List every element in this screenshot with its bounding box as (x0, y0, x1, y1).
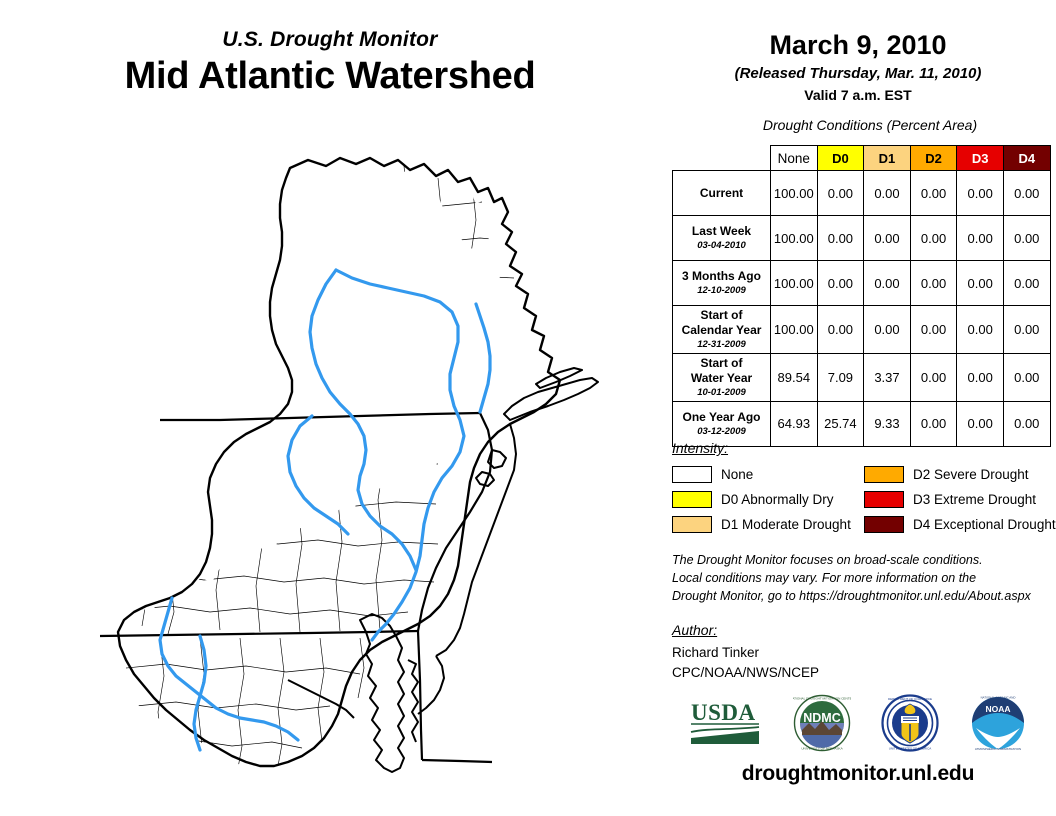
legend-label-none: None (721, 467, 753, 482)
disclaimer-text: The Drought Monitor focuses on broad-sca… (672, 552, 1052, 605)
column-header-d3: D3 (957, 146, 1004, 171)
cell-d3: 0.00 (957, 353, 1004, 401)
legend-label-d2: D2 Severe Drought (913, 467, 1029, 482)
watershed-outline (118, 158, 560, 766)
mid-atlantic-watershed-map[interactable] (40, 120, 660, 800)
cell-none: 100.00 (771, 216, 818, 261)
column-header-none: None (771, 146, 818, 171)
cell-d0: 0.00 (817, 306, 864, 354)
map-container[interactable] (40, 120, 660, 800)
table-row: Start of Water Year 10-01-2009 89.54 7.0… (673, 353, 1051, 401)
cell-d0: 0.00 (817, 216, 864, 261)
usda-logo: USDA (689, 698, 763, 753)
svg-text:NATIONAL OCEANIC AND: NATIONAL OCEANIC AND (981, 695, 1016, 699)
swatch-d4-icon (864, 516, 904, 533)
table-row: Last Week 03-04-2010 100.00 0.00 0.00 0.… (673, 216, 1051, 261)
cell-d1: 0.00 (864, 261, 911, 306)
cell-none: 100.00 (771, 171, 818, 216)
row-label-date: 12-10-2009 (675, 285, 768, 297)
swatch-d2-icon (864, 466, 904, 483)
disclaimer-line-1: The Drought Monitor focuses on broad-sca… (672, 552, 1052, 570)
row-label-date: 03-04-2010 (675, 240, 768, 252)
svg-text:NDMC: NDMC (803, 711, 841, 725)
cell-none: 100.00 (771, 261, 818, 306)
table-caption: Drought Conditions (Percent Area) (684, 117, 1056, 133)
cell-d3: 0.00 (957, 216, 1004, 261)
cell-d1: 0.00 (864, 306, 911, 354)
cell-d0: 0.00 (817, 261, 864, 306)
cell-d4: 0.00 (1003, 353, 1050, 401)
drought-monitor-page: U.S. Drought Monitor Mid Atlantic Waters… (0, 0, 1056, 816)
cell-d3: 0.00 (957, 261, 1004, 306)
swatch-d3-icon (864, 491, 904, 508)
cell-d0: 7.09 (817, 353, 864, 401)
table-row: Current 100.00 0.00 0.00 0.00 0.00 0.00 (673, 171, 1051, 216)
author-name: Richard Tinker (672, 643, 1052, 663)
cell-d3: 0.00 (957, 171, 1004, 216)
row-label-3-months-ago: 3 Months Ago 12-10-2009 (673, 261, 771, 306)
website-url[interactable]: droughtmonitor.unl.edu (660, 762, 1056, 786)
legend-item-d3: D3 Extreme Drought (864, 487, 1050, 512)
row-label-last-week: Last Week 03-04-2010 (673, 216, 771, 261)
cell-none: 100.00 (771, 306, 818, 354)
legend-label-d0: D0 Abnormally Dry (721, 492, 834, 507)
cell-d4: 0.00 (1003, 261, 1050, 306)
row-label-date: 10-01-2009 (675, 387, 768, 399)
ndmc-logo: NDMC NATIONAL DROUGHT MITIGATION CENTER … (793, 694, 851, 757)
table-row: 3 Months Ago 12-10-2009 100.00 0.00 0.00… (673, 261, 1051, 306)
table-body: Current 100.00 0.00 0.00 0.00 0.00 0.00 … (673, 171, 1051, 447)
svg-text:ATMOSPHERIC ADMINISTRATION: ATMOSPHERIC ADMINISTRATION (975, 747, 1021, 751)
svg-text:DEPARTMENT OF COMMERCE: DEPARTMENT OF COMMERCE (888, 697, 932, 701)
swatch-d0-icon (672, 491, 712, 508)
legend-item-d0: D0 Abnormally Dry (672, 487, 858, 512)
author-organization: CPC/NOAA/NWS/NCEP (672, 663, 1052, 683)
disclaimer-line-3[interactable]: Drought Monitor, go to https://droughtmo… (672, 588, 1052, 606)
intensity-legend-grid: None D2 Severe Drought D0 Abnormally Dry… (672, 462, 1052, 537)
legend-item-d1: D1 Moderate Drought (672, 512, 858, 537)
cell-d3: 0.00 (957, 306, 1004, 354)
cell-d1: 3.37 (864, 353, 911, 401)
svg-text:UNITED STATES OF AMERICA: UNITED STATES OF AMERICA (889, 746, 932, 750)
cell-d2: 0.00 (910, 216, 957, 261)
cell-d2: 0.00 (910, 171, 957, 216)
page-title: Mid Atlantic Watershed (0, 55, 660, 99)
row-label-text: One Year Ago (682, 410, 760, 424)
row-label-start-of-calendar-year: Start of Calendar Year 12-31-2009 (673, 306, 771, 354)
legend-item-d4: D4 Exceptional Drought (864, 512, 1050, 537)
svg-text:NATIONAL DROUGHT MITIGATION CE: NATIONAL DROUGHT MITIGATION CENTER (793, 696, 851, 700)
cell-d1: 0.00 (864, 171, 911, 216)
row-label-text: Current (700, 186, 743, 200)
column-header-d0: D0 (817, 146, 864, 171)
swatch-none-icon (672, 466, 712, 483)
noaa-logo: NOAA NATIONAL OCEANIC AND ATMOSPHERIC AD… (969, 694, 1027, 757)
column-header-d2: D2 (910, 146, 957, 171)
cell-none: 89.54 (771, 353, 818, 401)
row-label-text: Start of Water Year (691, 356, 752, 385)
legend-label-d4: D4 Exceptional Drought (913, 517, 1056, 532)
column-header-d1: D1 (864, 146, 911, 171)
usdc-seal: DEPARTMENT OF COMMERCE UNITED STATES OF … (881, 694, 939, 757)
cell-d2: 0.00 (910, 306, 957, 354)
intensity-legend-title: Intensity: (672, 440, 1052, 456)
row-label-current: Current (673, 171, 771, 216)
valid-time: Valid 7 a.m. EST (660, 87, 1056, 103)
legend-label-d3: D3 Extreme Drought (913, 492, 1036, 507)
intensity-legend: Intensity: None D2 Severe Drought D0 Abn… (672, 440, 1052, 537)
report-date: March 9, 2010 (660, 30, 1056, 61)
agency-title: U.S. Drought Monitor (0, 28, 660, 51)
cell-d2: 0.00 (910, 353, 957, 401)
row-label-text: 3 Months Ago (682, 269, 761, 283)
cell-d4: 0.00 (1003, 171, 1050, 216)
row-label-text: Start of Calendar Year (682, 308, 762, 337)
table-corner-cell (673, 146, 771, 171)
right-panel: March 9, 2010 (Released Thursday, Mar. 1… (660, 0, 1056, 816)
logo-row: USDA NDMC NATIONAL DROUGHT MITIGATION C (660, 690, 1056, 760)
table-header: None D0 D1 D2 D3 D4 (673, 146, 1051, 171)
title-block: U.S. Drought Monitor Mid Atlantic Waters… (0, 28, 660, 99)
date-block: March 9, 2010 (Released Thursday, Mar. 1… (660, 0, 1056, 103)
drought-conditions-table: None D0 D1 D2 D3 D4 Current 100.00 0.00 … (672, 145, 1051, 447)
legend-item-none: None (672, 462, 858, 487)
row-label-text: Last Week (692, 224, 751, 238)
cell-d4: 0.00 (1003, 216, 1050, 261)
svg-text:NOAA: NOAA (985, 704, 1010, 714)
disclaimer-line-2: Local conditions may vary. For more info… (672, 570, 1052, 588)
legend-label-d1: D1 Moderate Drought (721, 517, 851, 532)
cell-d2: 0.00 (910, 261, 957, 306)
column-header-d4: D4 (1003, 146, 1050, 171)
cell-d0: 0.00 (817, 171, 864, 216)
legend-item-d2: D2 Severe Drought (864, 462, 1050, 487)
row-label-date: 12-31-2009 (675, 339, 768, 351)
svg-text:UNIVERSITY OF NEBRASKA: UNIVERSITY OF NEBRASKA (801, 746, 843, 750)
author-heading: Author: (672, 622, 1052, 638)
author-block: Author: Richard Tinker CPC/NOAA/NWS/NCEP (672, 622, 1052, 682)
row-label-start-of-water-year: Start of Water Year 10-01-2009 (673, 353, 771, 401)
swatch-d1-icon (672, 516, 712, 533)
cell-d4: 0.00 (1003, 306, 1050, 354)
svg-text:USDA: USDA (691, 700, 756, 725)
cell-d1: 0.00 (864, 216, 911, 261)
table-row: Start of Calendar Year 12-31-2009 100.00… (673, 306, 1051, 354)
release-date: (Released Thursday, Mar. 11, 2010) (660, 65, 1056, 83)
row-label-date: 03-12-2009 (675, 426, 768, 438)
